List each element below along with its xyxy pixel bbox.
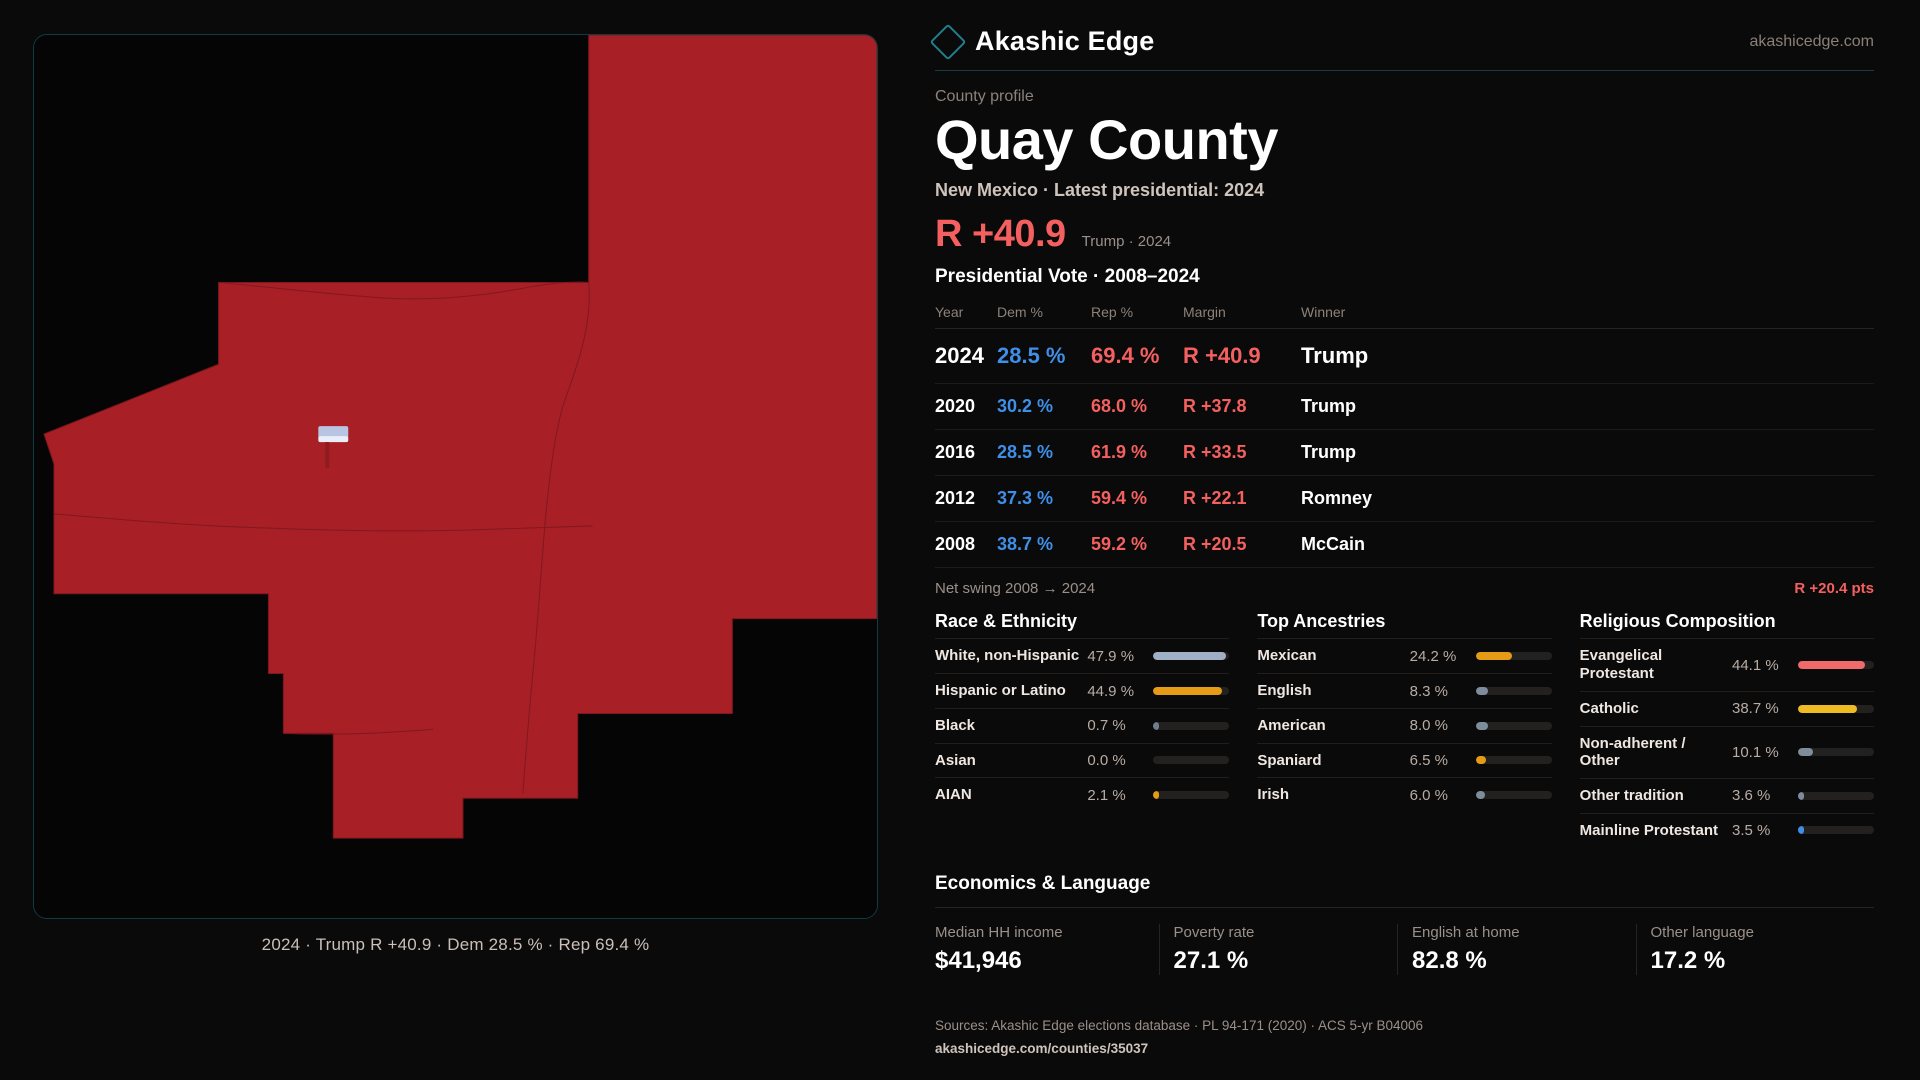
cell-year: 2016 xyxy=(935,430,997,476)
row-bar xyxy=(1476,756,1552,764)
row-bar xyxy=(1798,705,1874,713)
list-item: Asian 0.0 % xyxy=(935,743,1229,778)
row-value: 10.1 % xyxy=(1732,744,1790,761)
list-item: Other tradition 3.6 % xyxy=(1580,778,1874,813)
econ-label: Median HH income xyxy=(935,924,1159,941)
econ-value: 27.1 % xyxy=(1174,947,1398,975)
col-year: Year xyxy=(935,298,997,329)
table-row[interactable]: 2020 30.2 % 68.0 % R +37.8 Trump xyxy=(935,384,1874,430)
list-item: Non-adherent / Other 10.1 % xyxy=(1580,726,1874,778)
presidential-vote-table: Year Dem % Rep % Margin Winner 2024 28.5… xyxy=(935,298,1874,568)
row-label: Mexican xyxy=(1257,647,1401,665)
row-bar xyxy=(1153,791,1229,799)
list-item: English 8.3 % xyxy=(1257,673,1551,708)
brand-url[interactable]: akashicedge.com xyxy=(1749,33,1874,51)
col-dem: Dem % xyxy=(997,298,1091,329)
list-item: Hispanic or Latino 44.9 % xyxy=(935,673,1229,708)
row-bar xyxy=(1153,652,1229,660)
cell-rep: 59.4 % xyxy=(1091,476,1183,522)
row-value: 44.1 % xyxy=(1732,657,1790,674)
list-item: AIAN 2.1 % xyxy=(935,777,1229,812)
cell-winner: Trump xyxy=(1301,430,1874,476)
table-row[interactable]: 2024 28.5 % 69.4 % R +40.9 Trump xyxy=(935,329,1874,384)
demographics-grid: Race & Ethnicity White, non-Hispanic 47.… xyxy=(935,611,1874,847)
econ-label: Poverty rate xyxy=(1174,924,1398,941)
list-item: Mainline Protestant 3.5 % xyxy=(1580,813,1874,848)
econ-cell-median-hh-income: Median HH income $41,946 xyxy=(935,924,1159,975)
econ-cell-other-language: Other language 17.2 % xyxy=(1636,924,1875,975)
map-caption: 2024 · Trump R +40.9 · Dem 28.5 % · Rep … xyxy=(262,935,650,955)
cell-year: 2008 xyxy=(935,522,997,568)
race-ethnicity-column: Race & Ethnicity White, non-Hispanic 47.… xyxy=(935,611,1229,847)
list-item: Irish 6.0 % xyxy=(1257,777,1551,812)
cell-rep: 68.0 % xyxy=(1091,384,1183,430)
list-item: Catholic 38.7 % xyxy=(1580,691,1874,726)
headline-margin: R +40.9 Trump · 2024 xyxy=(935,213,1874,256)
row-label: Hispanic or Latino xyxy=(935,682,1079,700)
cell-margin: R +40.9 xyxy=(1183,329,1301,384)
sources-block: Sources: Akashic Edge elections database… xyxy=(935,1015,1874,1061)
table-header-row: Year Dem % Rep % Margin Winner xyxy=(935,298,1874,329)
religion-title: Religious Composition xyxy=(1580,611,1874,638)
row-label: Mainline Protestant xyxy=(1580,822,1724,840)
row-bar xyxy=(1798,826,1874,834)
row-bar xyxy=(1476,687,1552,695)
row-value: 44.9 % xyxy=(1087,683,1145,700)
page-subtitle: New Mexico · Latest presidential: 2024 xyxy=(935,180,1874,201)
col-winner: Winner xyxy=(1301,298,1874,329)
list-item: Spaniard 6.5 % xyxy=(1257,743,1551,778)
table-row[interactable]: 2008 38.7 % 59.2 % R +20.5 McCain xyxy=(935,522,1874,568)
margin-value: R +40.9 xyxy=(935,213,1066,256)
row-value: 8.0 % xyxy=(1410,717,1468,734)
county-map[interactable] xyxy=(33,34,878,919)
cell-margin: R +33.5 xyxy=(1183,430,1301,476)
cell-dem: 28.5 % xyxy=(997,430,1091,476)
cell-winner: Romney xyxy=(1301,476,1874,522)
cell-rep: 61.9 % xyxy=(1091,430,1183,476)
list-item: Black 0.7 % xyxy=(935,708,1229,743)
row-bar xyxy=(1798,661,1874,669)
table-row[interactable]: 2016 28.5 % 61.9 % R +33.5 Trump xyxy=(935,430,1874,476)
cell-year: 2012 xyxy=(935,476,997,522)
row-label: Black xyxy=(935,717,1079,735)
cell-winner: Trump xyxy=(1301,384,1874,430)
row-value: 24.2 % xyxy=(1410,648,1468,665)
county-profile-page: 2024 · Trump R +40.9 · Dem 28.5 % · Rep … xyxy=(0,0,1920,1080)
row-label: American xyxy=(1257,717,1401,735)
diamond-icon xyxy=(930,23,967,60)
row-value: 38.7 % xyxy=(1732,700,1790,717)
row-value: 3.5 % xyxy=(1732,822,1790,839)
list-item: White, non-Hispanic 47.9 % xyxy=(935,638,1229,673)
row-bar xyxy=(1153,756,1229,764)
econ-cell-poverty-rate: Poverty rate 27.1 % xyxy=(1159,924,1398,975)
row-label: Asian xyxy=(935,752,1079,770)
row-bar xyxy=(1153,687,1229,695)
econ-cell-english-at-home: English at home 82.8 % xyxy=(1397,924,1636,975)
list-item: Mexican 24.2 % xyxy=(1257,638,1551,673)
map-pane: 2024 · Trump R +40.9 · Dem 28.5 % · Rep … xyxy=(0,0,905,1080)
table-row[interactable]: 2012 37.3 % 59.4 % R +22.1 Romney xyxy=(935,476,1874,522)
cell-rep: 69.4 % xyxy=(1091,329,1183,384)
row-label: White, non-Hispanic xyxy=(935,647,1079,665)
cell-dem: 28.5 % xyxy=(997,329,1091,384)
row-value: 0.0 % xyxy=(1087,752,1145,769)
row-bar xyxy=(1798,748,1874,756)
sources-line: Sources: Akashic Edge elections database… xyxy=(935,1015,1874,1038)
row-label: AIAN xyxy=(935,786,1079,804)
votes-section-title: Presidential Vote · 2008–2024 xyxy=(935,266,1874,288)
cell-rep: 59.2 % xyxy=(1091,522,1183,568)
cell-margin: R +37.8 xyxy=(1183,384,1301,430)
row-bar xyxy=(1476,722,1552,730)
row-label: Irish xyxy=(1257,786,1401,804)
row-bar xyxy=(1476,791,1552,799)
econ-value: $41,946 xyxy=(935,947,1159,975)
row-value: 47.9 % xyxy=(1087,648,1145,665)
list-item: American 8.0 % xyxy=(1257,708,1551,743)
cell-dem: 38.7 % xyxy=(997,522,1091,568)
cell-margin: R +20.5 xyxy=(1183,522,1301,568)
econ-label: English at home xyxy=(1412,924,1636,941)
religious-composition-column: Religious Composition Evangelical Protes… xyxy=(1580,611,1874,847)
row-bar xyxy=(1153,722,1229,730)
net-swing-row: Net swing 2008 → 2024 R +20.4 pts xyxy=(935,580,1874,597)
info-panel: Akashic Edge akashicedge.com County prof… xyxy=(905,0,1920,1080)
brand-bar: Akashic Edge akashicedge.com xyxy=(935,26,1874,71)
row-label: Evangelical Protestant xyxy=(1580,647,1724,682)
row-label: Other tradition xyxy=(1580,787,1724,805)
econ-label: Other language xyxy=(1651,924,1875,941)
row-bar xyxy=(1798,792,1874,800)
cell-dem: 30.2 % xyxy=(997,384,1091,430)
brand-name: Akashic Edge xyxy=(975,26,1154,57)
page-eyebrow: County profile xyxy=(935,88,1874,106)
row-label: Spaniard xyxy=(1257,752,1401,770)
net-swing-value: R +20.4 pts xyxy=(1794,580,1874,597)
row-value: 2.1 % xyxy=(1087,787,1145,804)
economics-grid: Median HH income $41,946 Poverty rate 27… xyxy=(935,907,1874,975)
cell-winner: Trump xyxy=(1301,329,1874,384)
margin-note: Trump · 2024 xyxy=(1082,233,1171,250)
list-item: Evangelical Protestant 44.1 % xyxy=(1580,638,1874,690)
brand-logo-group[interactable]: Akashic Edge xyxy=(935,26,1154,57)
economics-title: Economics & Language xyxy=(935,873,1874,895)
row-bar xyxy=(1476,652,1552,660)
page-title: Quay County xyxy=(935,110,1874,170)
cell-dem: 37.3 % xyxy=(997,476,1091,522)
econ-value: 17.2 % xyxy=(1651,947,1875,975)
col-rep: Rep % xyxy=(1091,298,1183,329)
cell-winner: McCain xyxy=(1301,522,1874,568)
county-shape-svg xyxy=(34,35,877,918)
net-swing-label: Net swing 2008 → 2024 xyxy=(935,580,1095,597)
top-ancestries-column: Top Ancestries Mexican 24.2 % English 8.… xyxy=(1257,611,1551,847)
row-label: Catholic xyxy=(1580,700,1724,718)
row-value: 8.3 % xyxy=(1410,683,1468,700)
sources-url[interactable]: akashicedge.com/counties/35037 xyxy=(935,1038,1874,1061)
row-value: 3.6 % xyxy=(1732,787,1790,804)
cell-margin: R +22.1 xyxy=(1183,476,1301,522)
col-margin: Margin xyxy=(1183,298,1301,329)
race-title: Race & Ethnicity xyxy=(935,611,1229,638)
row-value: 6.0 % xyxy=(1410,787,1468,804)
row-label: Non-adherent / Other xyxy=(1580,735,1724,770)
row-value: 0.7 % xyxy=(1087,717,1145,734)
ancestries-title: Top Ancestries xyxy=(1257,611,1551,638)
row-value: 6.5 % xyxy=(1410,752,1468,769)
cell-year: 2020 xyxy=(935,384,997,430)
cell-year: 2024 xyxy=(935,329,997,384)
econ-value: 82.8 % xyxy=(1412,947,1636,975)
row-label: English xyxy=(1257,682,1401,700)
